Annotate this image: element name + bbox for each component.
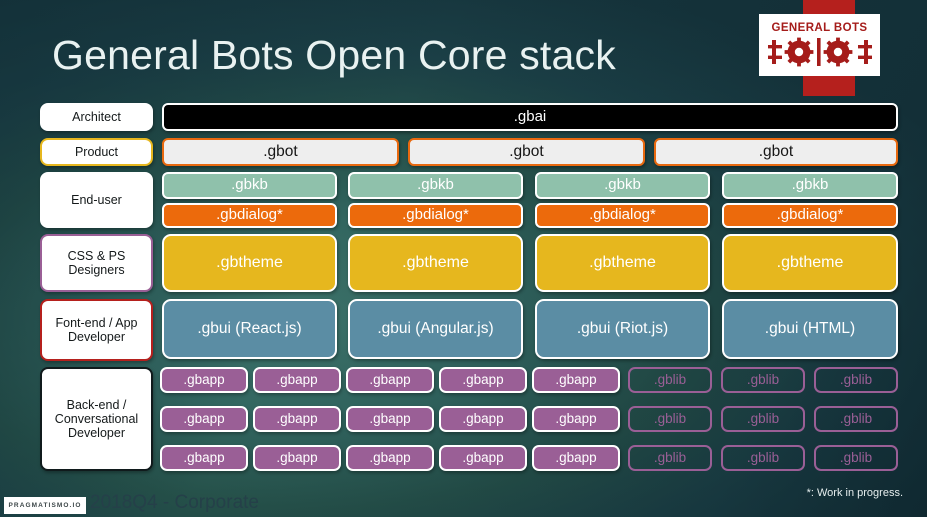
- layer-label: .gbtheme: [589, 254, 656, 272]
- role-frontend-app-developer[interactable]: Font-end / AppDeveloper: [40, 299, 153, 361]
- layer-label: .gbapp: [369, 411, 410, 426]
- role-architect[interactable]: Architect: [40, 103, 153, 131]
- role-css-ps-designers[interactable]: CSS & PSDesigners: [40, 234, 153, 292]
- layer-label: .gbkb: [231, 177, 268, 194]
- layer-label: .gbui (Riot.js): [577, 320, 668, 337]
- layer-gblib-r3c2[interactable]: .gblib: [721, 445, 805, 471]
- layer-label: .gbapp: [369, 450, 410, 465]
- layer-label: .gbot: [509, 143, 543, 160]
- layer-label: .gbapp: [276, 372, 317, 387]
- layer-gbdialog-2[interactable]: .gbdialog*: [348, 203, 523, 228]
- layer-gbot-3[interactable]: .gbot: [654, 138, 898, 166]
- layer-gbapp-r2c2[interactable]: .gbapp: [253, 406, 341, 432]
- layer-label: .gblib: [840, 450, 872, 465]
- layer-label: .gbkb: [604, 177, 641, 194]
- gears-icon: [768, 37, 872, 67]
- layer-gbapp-r2c3[interactable]: .gbapp: [346, 406, 434, 432]
- layer-gblib-r3c1[interactable]: .gblib: [628, 445, 712, 471]
- role-end-user[interactable]: End-user: [40, 172, 153, 228]
- layer-gbkb-1[interactable]: .gbkb: [162, 172, 337, 199]
- layer-gblib-r3c3[interactable]: .gblib: [814, 445, 898, 471]
- layer-label: .gbui (Angular.js): [377, 320, 493, 337]
- layer-gbapp-r1c5[interactable]: .gbapp: [532, 367, 620, 393]
- role-backend-conversational-developer[interactable]: Back-end /ConversationalDeveloper: [40, 367, 153, 471]
- layer-gblib-r2c3[interactable]: .gblib: [814, 406, 898, 432]
- layer-label: .gbapp: [183, 411, 224, 426]
- layer-label: .gblib: [840, 372, 872, 387]
- layer-gbdialog-1[interactable]: .gbdialog*: [162, 203, 337, 228]
- layer-gbapp-r2c4[interactable]: .gbapp: [439, 406, 527, 432]
- layer-label: .gbtheme: [216, 254, 283, 272]
- layer-gbapp-r3c5[interactable]: .gbapp: [532, 445, 620, 471]
- layer-gbdialog-3[interactable]: .gbdialog*: [535, 203, 710, 228]
- role-label: Architect: [72, 110, 121, 124]
- layer-gbapp-r3c2[interactable]: .gbapp: [253, 445, 341, 471]
- layer-label: .gbapp: [462, 411, 503, 426]
- layer-label: .gbui (React.js): [197, 320, 301, 337]
- layer-label: .gbui (HTML): [765, 320, 855, 337]
- layer-gbtheme-1[interactable]: .gbtheme: [162, 234, 337, 292]
- role-product[interactable]: Product: [40, 138, 153, 166]
- layer-gbui-angular[interactable]: .gbui (Angular.js): [348, 299, 523, 359]
- general-bots-logo: GENERAL BOTS: [759, 0, 899, 96]
- layer-gbapp-r3c4[interactable]: .gbapp: [439, 445, 527, 471]
- layer-label: .gbapp: [276, 450, 317, 465]
- layer-gbdialog-4[interactable]: .gbdialog*: [722, 203, 898, 228]
- logo-card: GENERAL BOTS: [759, 14, 880, 76]
- work-in-progress-note: *: Work in progress.: [807, 487, 903, 499]
- role-label: Back-end /ConversationalDeveloper: [55, 398, 138, 440]
- layer-gbtheme-2[interactable]: .gbtheme: [348, 234, 523, 292]
- layer-gblib-r1c3[interactable]: .gblib: [814, 367, 898, 393]
- layer-gbapp-r1c3[interactable]: .gbapp: [346, 367, 434, 393]
- layer-label: .gblib: [840, 411, 872, 426]
- layer-label: .gbtheme: [777, 254, 844, 272]
- layer-gblib-r1c1[interactable]: .gblib: [628, 367, 712, 393]
- layer-gbapp-r1c4[interactable]: .gbapp: [439, 367, 527, 393]
- role-label: CSS & PSDesigners: [68, 249, 126, 277]
- layer-label: .gbot: [759, 143, 793, 160]
- layer-gbai[interactable]: .gbai: [162, 103, 898, 131]
- layer-label: .gbapp: [369, 372, 410, 387]
- layer-gbapp-r3c1[interactable]: .gbapp: [160, 445, 248, 471]
- layer-gbapp-r3c3[interactable]: .gbapp: [346, 445, 434, 471]
- layer-gbot-1[interactable]: .gbot: [162, 138, 399, 166]
- layer-label: .gbdialog*: [402, 207, 469, 224]
- layer-label: .gbapp: [555, 450, 596, 465]
- layer-gbkb-3[interactable]: .gbkb: [535, 172, 710, 199]
- layer-label: .gblib: [654, 450, 686, 465]
- layer-label: .gbdialog*: [589, 207, 656, 224]
- layer-gbtheme-3[interactable]: .gbtheme: [535, 234, 710, 292]
- layer-gbui-react[interactable]: .gbui (React.js): [162, 299, 337, 359]
- layer-label: .gbai: [514, 109, 547, 126]
- layer-label: .gbapp: [462, 450, 503, 465]
- layer-label: .gbdialog*: [216, 207, 283, 224]
- layer-gbapp-r2c1[interactable]: .gbapp: [160, 406, 248, 432]
- layer-label: .gbdialog*: [777, 207, 844, 224]
- layer-gbui-riot[interactable]: .gbui (Riot.js): [535, 299, 710, 359]
- layer-label: .gbapp: [183, 372, 224, 387]
- layer-gbapp-r1c1[interactable]: .gbapp: [160, 367, 248, 393]
- layer-gbapp-r1c2[interactable]: .gbapp: [253, 367, 341, 393]
- role-label: Product: [75, 145, 118, 159]
- layer-label: .gblib: [654, 411, 686, 426]
- layer-label: .gbapp: [183, 450, 224, 465]
- pragmatismo-wordmark: PRAGMATISMO.IO: [8, 502, 81, 509]
- layer-gbapp-r2c5[interactable]: .gbapp: [532, 406, 620, 432]
- layer-label: .gbapp: [555, 411, 596, 426]
- layer-label: .gblib: [747, 411, 779, 426]
- layer-label: .gblib: [747, 450, 779, 465]
- layer-label: .gbtheme: [402, 254, 469, 272]
- layer-gblib-r2c2[interactable]: .gblib: [721, 406, 805, 432]
- footer-caption: 2018Q4 - Corporate: [90, 492, 259, 514]
- layer-gbtheme-4[interactable]: .gbtheme: [722, 234, 898, 292]
- layer-label: .gbot: [263, 143, 297, 160]
- layer-label: .gbkb: [792, 177, 829, 194]
- layer-gbkb-2[interactable]: .gbkb: [348, 172, 523, 199]
- layer-gbot-2[interactable]: .gbot: [408, 138, 645, 166]
- layer-gbkb-4[interactable]: .gbkb: [722, 172, 898, 199]
- logo-wordmark: GENERAL BOTS: [772, 23, 868, 35]
- layer-label: .gbapp: [555, 372, 596, 387]
- role-label: End-user: [71, 193, 122, 207]
- pragmatismo-logo: PRAGMATISMO.IO: [4, 497, 86, 514]
- layer-label: .gblib: [747, 372, 779, 387]
- layer-label: .gbapp: [462, 372, 503, 387]
- layer-label: .gbkb: [417, 177, 454, 194]
- layer-label: .gbapp: [276, 411, 317, 426]
- layer-gblib-r2c1[interactable]: .gblib: [628, 406, 712, 432]
- layer-gbui-html[interactable]: .gbui (HTML): [722, 299, 898, 359]
- page-title: General Bots Open Core stack: [52, 32, 616, 79]
- role-label: Font-end / AppDeveloper: [55, 316, 137, 344]
- layer-gblib-r1c2[interactable]: .gblib: [721, 367, 805, 393]
- layer-label: .gblib: [654, 372, 686, 387]
- slide-canvas: General Bots Open Core stack GENERAL BOT…: [0, 0, 927, 517]
